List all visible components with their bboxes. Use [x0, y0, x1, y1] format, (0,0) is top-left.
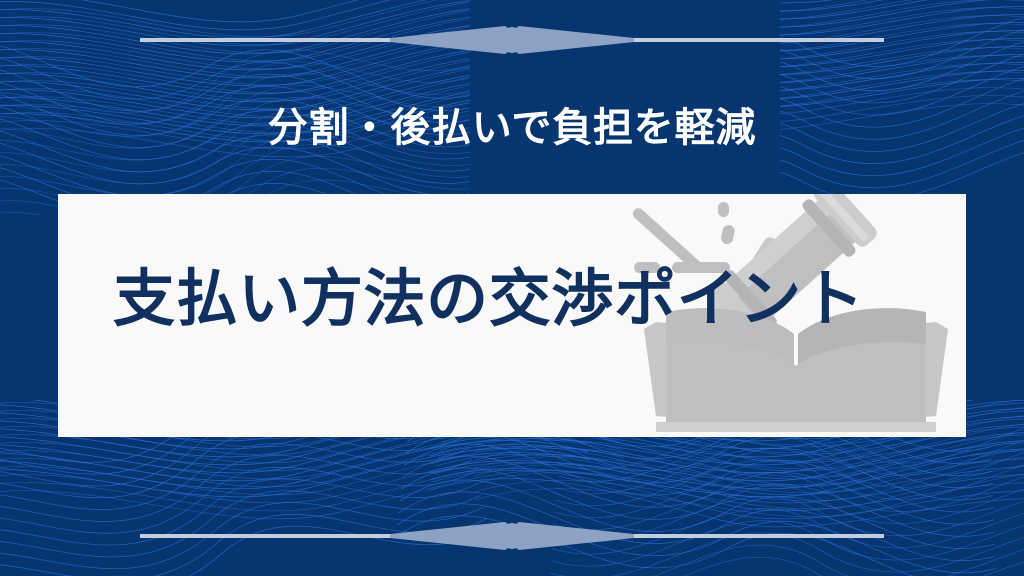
circle-ornament — [501, 27, 523, 53]
divider-line-left — [140, 534, 580, 538]
top-divider-ornament — [0, 18, 1024, 62]
circle-ornament — [501, 523, 523, 549]
wedge-right — [499, 522, 634, 550]
wedge-left — [390, 522, 525, 550]
slide-canvas: 分割・後払いで負担を軽減 — [0, 0, 1024, 576]
slide-main-title: 支払い方法の交渉ポイント — [113, 266, 913, 334]
slide-subtitle: 分割・後払いで負担を軽減 — [0, 104, 1024, 152]
wedge-right — [499, 26, 634, 54]
wedge-left — [390, 26, 525, 54]
divider-line-right — [444, 534, 884, 538]
bottom-divider-ornament — [0, 514, 1024, 558]
motion-lines-icon — [631, 202, 736, 273]
divider-line-left — [140, 38, 580, 42]
divider-line-right — [444, 38, 884, 42]
title-card: 支払い方法の交渉ポイント — [58, 194, 966, 437]
